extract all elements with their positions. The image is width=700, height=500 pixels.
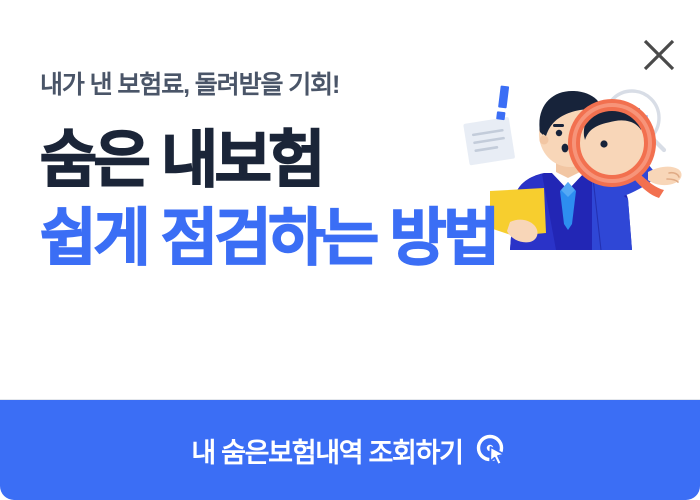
promo-banner: 내가 낸 보험료, 돌려받을 기회! 숨은 내보험 쉽게 점검하는 방법 내 숨…	[0, 0, 700, 500]
target-cursor-icon	[475, 433, 509, 467]
exclamation-mark-icon	[496, 85, 509, 120]
banner-copy: 내가 낸 보험료, 돌려받을 기회! 숨은 내보험 쉽게 점검하는 방법	[40, 72, 497, 270]
close-icon	[638, 34, 680, 76]
cta-label: 내 숨은보험내역 조회하기	[191, 431, 462, 470]
hand-right	[648, 167, 682, 186]
cta-button[interactable]: 내 숨은보험내역 조회하기	[0, 400, 700, 500]
headline-line-1: 숨은 내보험	[40, 130, 497, 192]
banner-headline: 숨은 내보험 쉽게 점검하는 방법	[40, 130, 497, 270]
banner-subtitle: 내가 낸 보험료, 돌려받을 기회!	[40, 72, 497, 100]
headline-line-2: 쉽게 점검하는 방법	[40, 208, 497, 270]
close-button[interactable]	[638, 34, 680, 76]
